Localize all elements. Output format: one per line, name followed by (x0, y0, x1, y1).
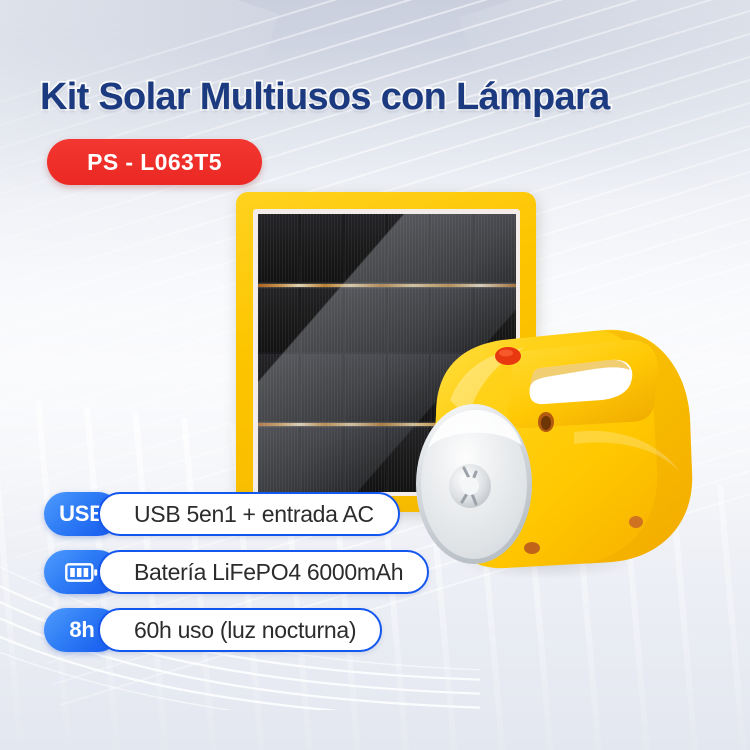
solar-cell (258, 284, 299, 352)
solar-cell (475, 284, 516, 352)
lantern-power-button-gloss (499, 350, 513, 357)
feature-list: USB USB 5en1 + entrada AC Batería LiFePO… (44, 492, 429, 652)
lantern-body (432, 330, 692, 568)
solar-cell (301, 214, 342, 282)
lantern-port-upper (538, 412, 554, 432)
feature-row-runtime: 8h 60h uso (luz nocturna) (44, 608, 429, 652)
lantern-drop-shadow (420, 540, 670, 586)
battery-icon (65, 563, 99, 582)
solar-panel-inner-frame (253, 209, 520, 496)
lantern-handle (508, 340, 659, 428)
background-corner-right-glow (458, 0, 750, 322)
solar-cell (345, 424, 386, 492)
feature-label-battery: Batería LiFePO4 6000mAh (98, 550, 429, 594)
solar-cell (258, 354, 299, 422)
solar-panel-busbar (258, 423, 516, 426)
lantern-lens (421, 409, 527, 559)
feature-label-runtime: 60h uso (luz nocturna) (98, 608, 382, 652)
solar-cell (345, 284, 386, 352)
solar-cell (301, 284, 342, 352)
lantern-handle-hole (530, 360, 633, 404)
solar-cell (345, 214, 386, 282)
solar-cell (258, 214, 299, 282)
feature-label-usb: USB 5en1 + entrada AC (98, 492, 400, 536)
lantern-bulb-holder (449, 464, 491, 508)
solar-panel-reflection (258, 214, 516, 492)
lantern-bulb-filament (462, 468, 476, 504)
solar-panel-busbar (258, 284, 516, 287)
lantern-port-side (629, 516, 643, 528)
model-number-badge: PS - L063T5 (47, 139, 262, 185)
solar-cell (431, 354, 472, 422)
solar-panel (236, 192, 536, 512)
solar-cell (388, 284, 429, 352)
product-banner: Kit Solar Multiusos con Lámpara PS - L06… (0, 0, 750, 750)
solar-panel-cell-grid (258, 214, 516, 492)
lantern-power-button (495, 347, 521, 365)
lantern-port-upper-inner (541, 416, 551, 430)
solar-cell (431, 424, 472, 492)
solar-cell (475, 424, 516, 492)
solar-cell (388, 214, 429, 282)
lantern-body-sheen (574, 431, 680, 472)
page-title: Kit Solar Multiusos con Lámpara (40, 76, 610, 119)
solar-cell (388, 354, 429, 422)
lantern-lens-top-glare (428, 410, 522, 448)
lantern-body-highlight (450, 348, 524, 418)
feature-row-battery: Batería LiFePO4 6000mAh (44, 550, 429, 594)
solar-cell (258, 424, 299, 492)
lantern-handle-hole-inner-shadow (530, 360, 630, 388)
solar-cell (301, 424, 342, 492)
solar-cell (388, 424, 429, 492)
solar-cell (345, 354, 386, 422)
lantern-bulb-core (461, 477, 479, 495)
solar-cell (431, 284, 472, 352)
feature-row-usb: USB USB 5en1 + entrada AC (44, 492, 429, 536)
solar-cell (301, 354, 342, 422)
solar-cell (475, 354, 516, 422)
lantern-rear-shading (584, 331, 692, 564)
solar-cell (475, 214, 516, 282)
lantern-lens-bezel (416, 404, 532, 564)
solar-cell (431, 214, 472, 282)
lantern-port-lower (524, 542, 540, 554)
solar-lantern (398, 322, 700, 582)
